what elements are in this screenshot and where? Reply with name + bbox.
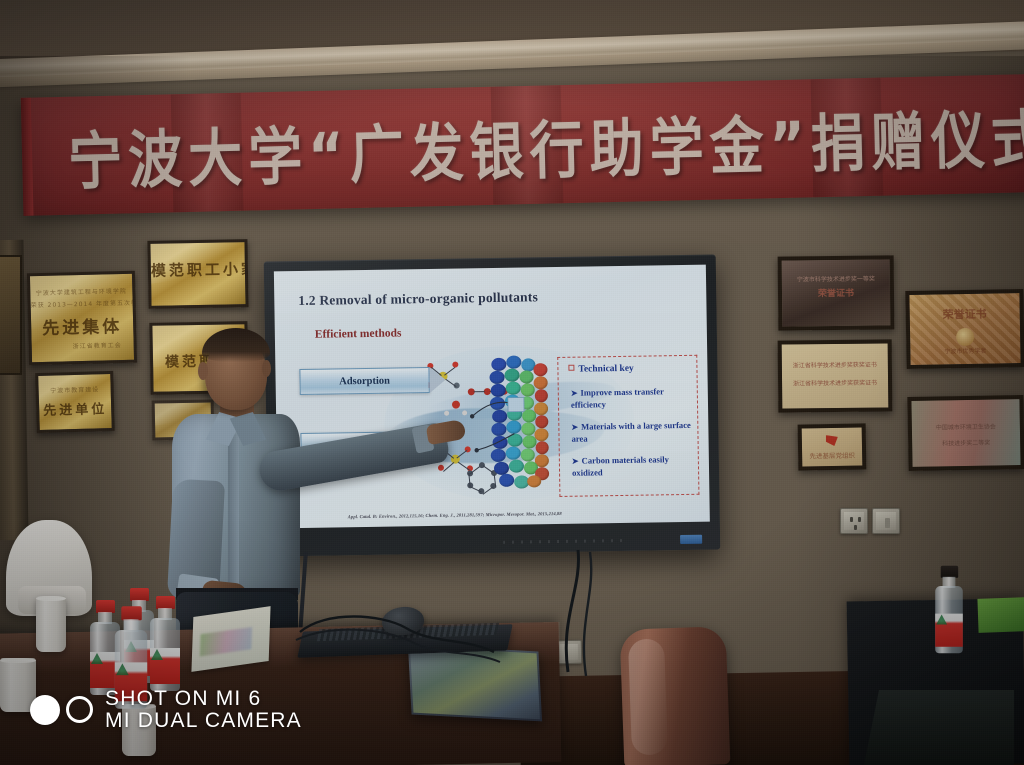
technical-key-heading: Technical key (568, 364, 633, 375)
technical-key-panel: Technical key ➤Improve mass transfer eff… (557, 355, 699, 497)
light-switch[interactable] (872, 508, 900, 534)
presenter-ear-right (262, 360, 271, 377)
technical-key-bullet: ➤Carbon materials easily oxidized (572, 454, 696, 479)
camera-watermark: SHOT ON MI 6 MI DUAL CAMERA (30, 688, 302, 731)
watermark-line-1: SHOT ON MI 6 (105, 688, 302, 710)
plaque-advanced-unit: 宁波市教育建设 先进单位 (35, 371, 115, 433)
certificate-provincial-award: 浙江省科学技术进步奖获奖证书 浙江省科学技术进步奖获奖证书 (778, 339, 893, 412)
display-cables (520, 548, 640, 678)
plaque-title: 先进集体 (31, 312, 134, 339)
technical-key-bullet-text: Materials with a large surface area (571, 420, 690, 444)
side-wall-frame (0, 255, 22, 375)
paper-cup[interactable] (36, 596, 66, 652)
outlet-hole (854, 525, 857, 530)
filled-circle-icon (30, 695, 60, 725)
cup-rim (36, 596, 66, 601)
technical-key-bullet: ➤Improve mass transfer efficiency (571, 386, 695, 411)
bottle-cap (121, 606, 142, 620)
certificate-line2: 浙江省科学技术进步奖获奖证书 (782, 377, 888, 387)
plaque-footer: 浙江省教育工会 (73, 340, 122, 350)
plaque-model-staff-home: 模范职工小家 (147, 239, 248, 309)
certificate-line1: 浙江省科学技术进步奖获奖证书 (782, 359, 888, 369)
power-outlet[interactable] (840, 508, 868, 534)
certificate-party-organization: 先进基层党组织 (798, 423, 867, 470)
certificate-line1: 中国城市环境卫生协会 (912, 421, 1020, 432)
switch-rocker-icon (885, 518, 890, 528)
slide-title: 1.2 Removal of micro-organic pollutants (298, 289, 538, 309)
photo-scene: 宁波大学“广发银行助学金”捐赠仪式 宁波大学建筑工程与环境学院 荣获 2013—… (0, 0, 1024, 765)
technical-key-bullet-text: Carbon materials easily oxidized (572, 454, 669, 477)
presenter-hair (202, 328, 270, 362)
chevron-right-icon: ➤ (571, 389, 578, 398)
watermark-line-2: MI DUAL CAMERA (105, 710, 302, 732)
certificate-honour: 荣誉证书 宁波市优秀学者 (905, 289, 1024, 369)
outline-circle-icon (66, 696, 93, 723)
paper-printed-content (200, 627, 252, 657)
chevron-right-icon: ➤ (571, 423, 578, 432)
presenter-ear-left (198, 362, 208, 380)
certificate-title: 荣誉证书 (782, 285, 890, 299)
outlet-hole (850, 517, 853, 522)
display-brand-logo (680, 535, 702, 544)
watermark-text: SHOT ON MI 6 MI DUAL CAMERA (105, 688, 302, 731)
certificate-line2: 科技进步奖二等奖 (912, 437, 1020, 448)
certificate-line1: 宁波市科学技术进步奖一等奖 (782, 273, 890, 283)
certificate-face (911, 399, 1020, 467)
water-bottle[interactable] (148, 596, 182, 691)
ceremony-banner: 宁波大学“广发银行助学金”捐赠仪式 (21, 74, 1024, 216)
paper-sheet-on-table[interactable] (191, 606, 270, 672)
green-object-behind-podium (977, 597, 1024, 633)
outlet-face (844, 512, 864, 530)
desk-cables (286, 604, 526, 674)
switch-face (876, 512, 896, 530)
certificate-subtitle: 宁波市优秀学者 (910, 345, 1020, 356)
certificate-face (782, 343, 889, 408)
podium-front-face (864, 690, 1014, 765)
chevron-right-icon: ➤ (572, 457, 579, 466)
plaque-title: 模范职工小家 (151, 258, 245, 281)
outlet-hole (858, 517, 861, 522)
bottle-label (150, 648, 180, 684)
plaque-title: 先进单位 (39, 398, 112, 419)
display-speaker-grille (503, 539, 623, 544)
certificate-science-award: 宁波市科学技术进步奖一等奖 荣誉证书 (778, 255, 895, 330)
certificate-title: 荣誉证书 (910, 305, 1020, 323)
technical-key-bullet-text: Improve mass transfer efficiency (571, 386, 664, 409)
cup-rim (0, 658, 36, 663)
technical-key-heading-text: Technical key (578, 364, 633, 375)
certificate-title: 先进基层党组织 (802, 449, 862, 460)
certificate-face (802, 427, 863, 466)
water-bottle[interactable] (933, 566, 964, 653)
bottle-label (935, 614, 963, 647)
square-bullet-icon (568, 365, 574, 371)
shirt-placket (228, 434, 239, 599)
nanomaterial-cluster (489, 355, 553, 494)
certificate-city-environment: 中国城市环境卫生协会 科技进步奖二等奖 (907, 395, 1024, 471)
plaque-advanced-collective: 宁波大学建筑工程与环境学院 荣获 2013—2014 年度第五次教育年系统“三育… (27, 271, 137, 366)
technical-key-bullet: ➤Materials with a large surface area (571, 420, 695, 445)
